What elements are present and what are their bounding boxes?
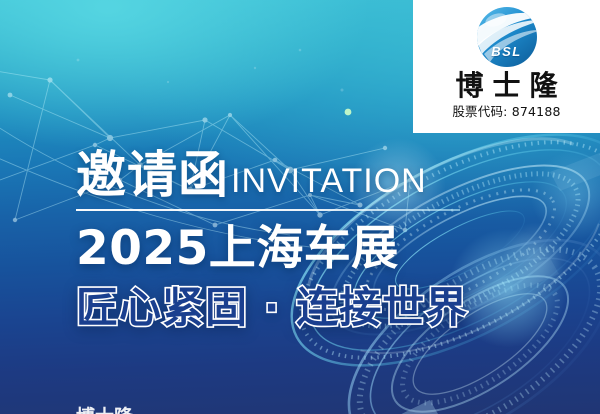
invitation-title-english: INVITATION xyxy=(231,164,427,200)
headline-block: 邀请函 INVITATION 2025上海车展 匠心紧固 · 连接世界 xyxy=(76,150,546,331)
bsl-sphere-logo-icon: BSL xyxy=(476,6,538,68)
footer-clipped-text: 博士隆 xyxy=(76,402,133,414)
invitation-line: 邀请函 INVITATION xyxy=(76,150,546,200)
brand-name-chinese: 博士隆 xyxy=(446,71,566,100)
company-slogan: 匠心紧固 · 连接世界 xyxy=(76,284,546,331)
stock-code-label: 股票代码: 874188 xyxy=(452,101,560,120)
event-title: 2025上海车展 xyxy=(76,225,546,274)
bsl-logo-text: BSL xyxy=(476,44,538,59)
invitation-poster: BSL 博士隆 股票代码: 874188 邀请函 INVITATION 2025… xyxy=(0,0,600,414)
footer-clipped-strip: 博士隆 xyxy=(0,401,600,414)
invitation-title-chinese: 邀请函 xyxy=(76,150,229,200)
company-logo-panel: BSL 博士隆 股票代码: 874188 xyxy=(413,0,600,133)
title-underline-divider xyxy=(76,209,460,211)
